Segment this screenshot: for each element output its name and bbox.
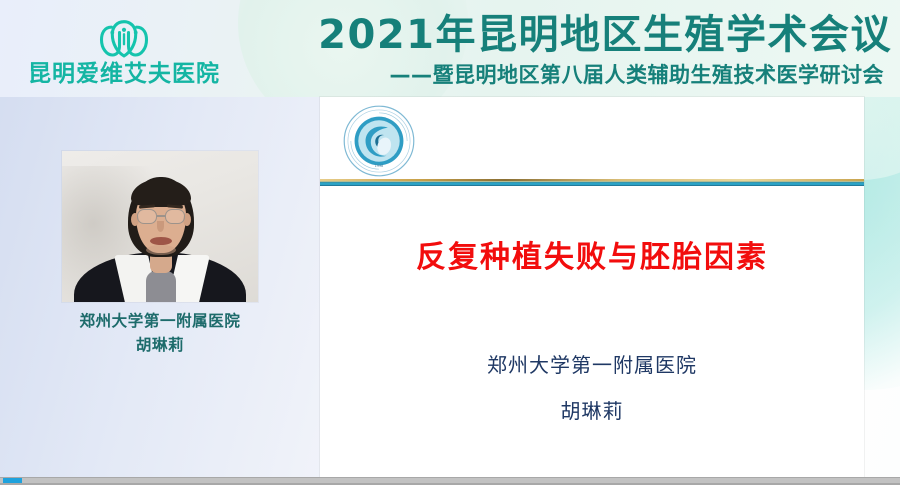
- conference-header-banner: 昆明爱维艾夫医院 2021年昆明地区生殖学术会议 ——暨昆明地区第八届人类辅助生…: [0, 0, 900, 97]
- speaker-caption-name: 胡琳莉: [0, 333, 320, 357]
- player-progress-track[interactable]: [0, 478, 900, 483]
- speaker-chin: [146, 245, 176, 255]
- svg-text:1998: 1998: [375, 164, 384, 168]
- speaker-inner-top: [146, 271, 176, 302]
- screen-root: 昆明爱维艾夫医院 2021年昆明地区生殖学术会议 ——暨昆明地区第八届人类辅助生…: [0, 0, 900, 485]
- speaker-caption-affiliation: 郑州大学第一附属医院: [0, 309, 320, 333]
- player-progress-fill[interactable]: [3, 478, 22, 483]
- speaker-caption: 郑州大学第一附属医院 胡琳莉: [0, 309, 320, 357]
- hospital-brand-name: 昆明爱维艾夫医院: [28, 62, 220, 85]
- speaker-panel: 郑州大学第一附属医院 胡琳莉: [0, 97, 320, 477]
- conference-subtitle: ——暨昆明地区第八届人类辅助生殖技术医学研讨会: [228, 57, 898, 91]
- slide-affiliation: 郑州大学第一附属医院: [320, 349, 864, 378]
- three-figures-teal-logo-icon: [97, 14, 151, 60]
- hospital-brand: 昆明爱维艾夫医院: [10, 4, 238, 94]
- speaker-mouth: [150, 237, 172, 245]
- slide-divider-gold-line: [320, 179, 864, 181]
- conference-title: 2021年昆明地区生殖学术会议: [228, 5, 898, 57]
- slide-presenter-name: 胡琳莉: [320, 395, 864, 424]
- speaker-glasses-bridge: [157, 215, 165, 217]
- speaker-glasses-right-lens: [165, 209, 185, 224]
- speaker-nose: [157, 221, 164, 232]
- presentation-slide[interactable]: 1998 反复种植失败与胚胎因素 郑州大学第一附属医院 胡琳莉: [320, 97, 864, 477]
- hospital-circular-emblem-icon: 1998: [342, 104, 416, 178]
- slide-title: 反复种植失败与胚胎因素: [320, 232, 864, 276]
- speaker-video-feed[interactable]: [62, 151, 258, 302]
- speaker-glasses-left-lens: [137, 209, 157, 224]
